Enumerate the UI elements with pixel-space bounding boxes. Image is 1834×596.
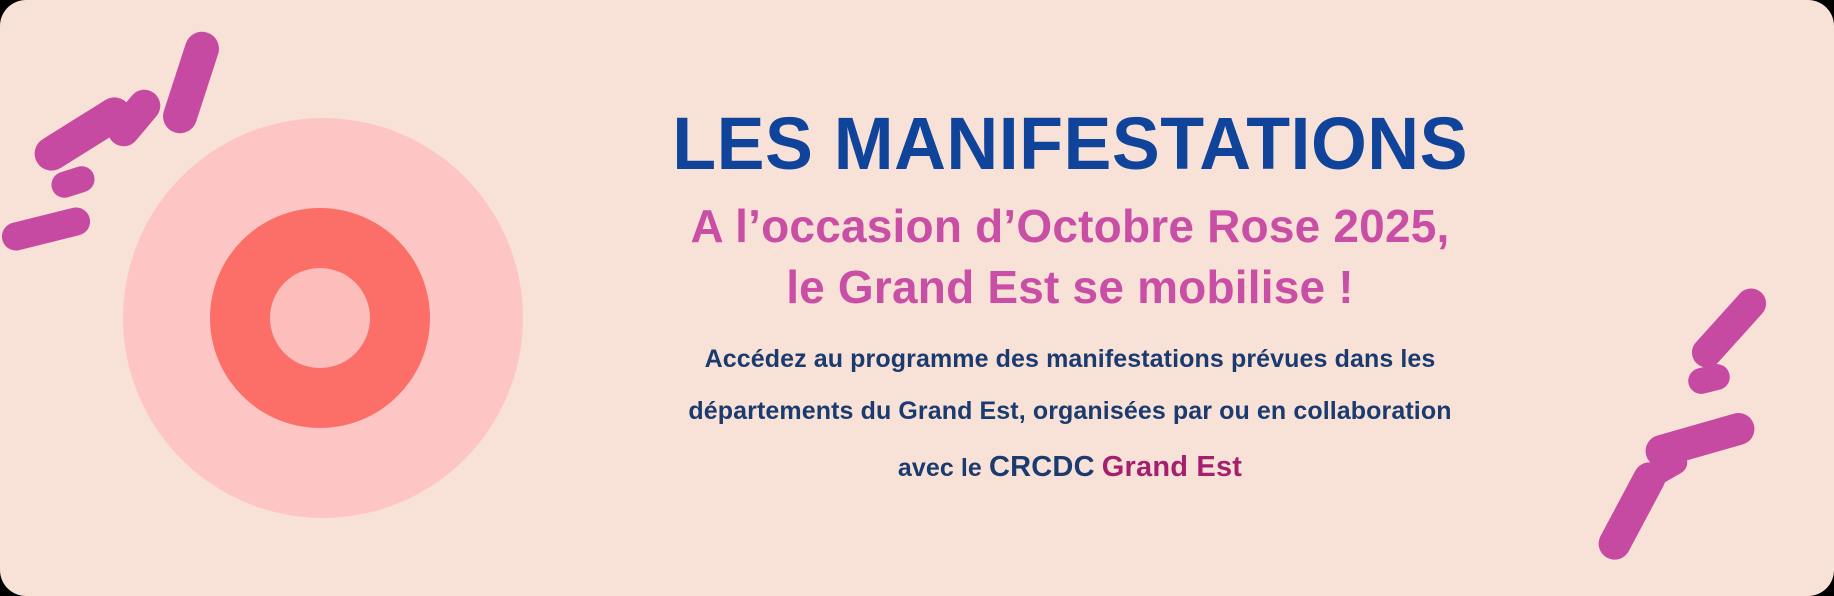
brand-space [1095, 454, 1102, 482]
sparkle-dash-icon [101, 83, 167, 153]
right-sparkle-cluster [1610, 280, 1810, 560]
sparkle-dash-icon [159, 27, 224, 137]
brand-crcdc-label: CRCDC [989, 451, 1095, 483]
banner-body-lead-text: avec le [898, 454, 989, 482]
sparkle-dash-icon [1686, 282, 1773, 373]
sparkle-dash-icon [0, 205, 93, 254]
banner-text-block: LES MANIFESTATIONS A l’occasion d’Octobr… [520, 0, 1620, 596]
banner-body-line-2: départements du Grand Est, organisées pa… [688, 385, 1451, 437]
octobre-rose-logo-artwork [88, 18, 518, 578]
banner-body-line-3: avec le CRCDC Grand Est [688, 437, 1451, 497]
page-title: LES MANIFESTATIONS [672, 106, 1468, 181]
banner-subtitle-line-1: A l’occasion d’Octobre Rose 2025, [690, 196, 1449, 257]
coral-ring-shape [210, 208, 430, 428]
octobre-rose-banner: LES MANIFESTATIONS A l’occasion d’Octobr… [0, 0, 1834, 596]
banner-body-copy: Accédez au programme des manifestations … [688, 333, 1451, 497]
outer-circle-shape [123, 118, 523, 518]
sparkle-dash-icon [1636, 446, 1691, 492]
banner-subtitle: A l’occasion d’Octobre Rose 2025, le Gra… [690, 196, 1449, 317]
sparkle-dash-icon [28, 91, 138, 177]
sparkle-dash-icon [1642, 409, 1758, 471]
brand-grand-est-label: Grand Est [1102, 451, 1242, 483]
sparkle-dash-icon [48, 163, 98, 201]
inner-circle-shape [270, 268, 370, 368]
sparkle-dash-icon [1685, 361, 1732, 396]
banner-subtitle-line-2: le Grand Est se mobilise ! [690, 257, 1449, 318]
banner-body-line-1: Accédez au programme des manifestations … [688, 333, 1451, 385]
